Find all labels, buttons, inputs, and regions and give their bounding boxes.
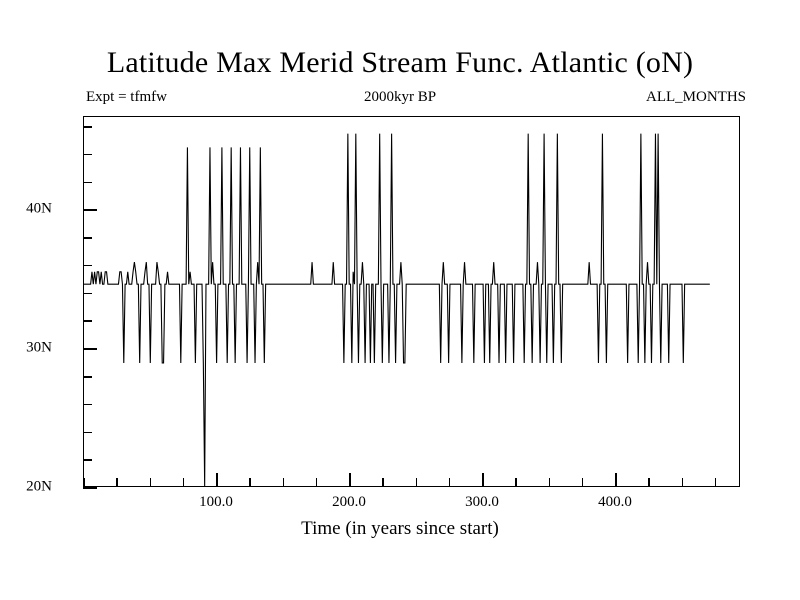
- y-axis-minor-tick: [83, 293, 92, 295]
- x-axis-minor-tick: [382, 478, 384, 487]
- x-axis-minor-tick: [249, 478, 251, 487]
- x-axis-minor-tick: [150, 478, 152, 487]
- x-axis-tick-label: 200.0: [332, 494, 366, 511]
- plot-frame: [83, 116, 740, 487]
- x-axis-minor-tick: [549, 478, 551, 487]
- y-axis-minor-tick: [83, 126, 92, 128]
- y-axis-minor-tick: [83, 320, 92, 322]
- x-axis-minor-tick: [715, 478, 717, 487]
- y-axis-tick-label: 30N: [26, 340, 52, 357]
- y-axis-minor-tick: [83, 459, 92, 461]
- x-axis-minor-tick: [449, 478, 451, 487]
- data-line: [84, 134, 710, 486]
- page-title: Latitude Max Merid Stream Func. Atlantic…: [0, 46, 800, 80]
- x-axis-title: Time (in years since start): [0, 518, 800, 540]
- y-axis-minor-tick: [83, 376, 92, 378]
- y-axis-minor-tick: [83, 265, 92, 267]
- y-axis-major-tick: [83, 348, 97, 350]
- x-axis-minor-tick: [648, 478, 650, 487]
- y-axis-minor-tick: [83, 182, 92, 184]
- x-axis-minor-tick: [515, 478, 517, 487]
- x-axis-minor-tick: [283, 478, 285, 487]
- y-axis-major-tick: [83, 487, 97, 489]
- x-axis-minor-tick: [183, 478, 185, 487]
- x-axis-minor-tick: [116, 478, 118, 487]
- x-axis-tick-label: 300.0: [465, 494, 499, 511]
- x-axis-minor-tick: [83, 478, 85, 487]
- x-axis-minor-tick: [316, 478, 318, 487]
- y-axis-major-tick: [83, 209, 97, 211]
- x-axis-tick-label: 100.0: [199, 494, 233, 511]
- y-axis-minor-tick: [83, 432, 92, 434]
- x-axis-major-tick: [615, 473, 617, 487]
- y-axis-tick-label: 40N: [26, 201, 52, 218]
- x-axis-major-tick: [482, 473, 484, 487]
- months-label: ALL_MONTHS: [646, 89, 746, 106]
- y-axis-minor-tick: [83, 154, 92, 156]
- x-axis-minor-tick: [582, 478, 584, 487]
- chart-page: Latitude Max Merid Stream Func. Atlantic…: [0, 0, 800, 600]
- x-axis-minor-tick: [682, 478, 684, 487]
- y-axis-tick-label: 20N: [26, 479, 52, 496]
- x-axis-minor-tick: [416, 478, 418, 487]
- series-plot: [84, 117, 739, 486]
- y-axis-minor-tick: [83, 237, 92, 239]
- y-axis-minor-tick: [83, 404, 92, 406]
- x-axis-major-tick: [216, 473, 218, 487]
- x-axis-tick-label: 400.0: [598, 494, 632, 511]
- x-axis-major-tick: [349, 473, 351, 487]
